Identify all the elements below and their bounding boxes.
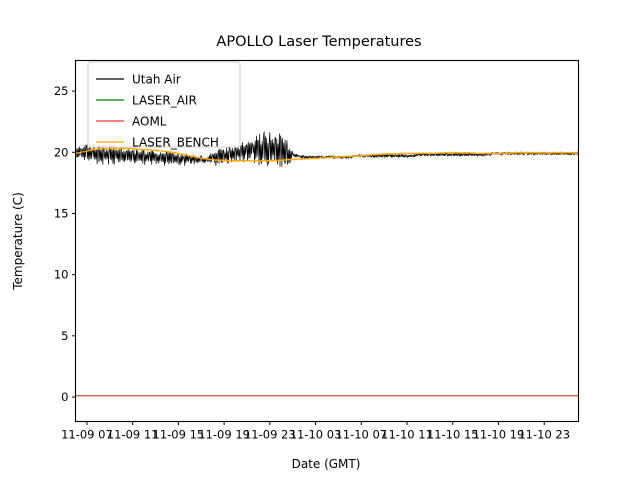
legend-label-aoml[interactable]: AOML: [132, 115, 167, 129]
x-tick-label: 11-09 15: [153, 428, 205, 442]
y-tick-label: 15: [54, 206, 69, 220]
x-tick-label: 11-10 03: [290, 428, 342, 442]
y-axis-label: Temperature (C): [11, 192, 25, 291]
legend-label-laser-bench[interactable]: LASER_BENCH: [132, 136, 219, 150]
x-tick-label: 11-10 23: [518, 428, 570, 442]
x-tick-label: 11-09 11: [107, 428, 159, 442]
chart-legend[interactable]: Utah AirLASER_AIRAOMLLASER_BENCH: [88, 62, 240, 150]
legend-label-laser-air[interactable]: LASER_AIR: [132, 94, 197, 108]
chart-canvas: APOLLO Laser Temperatures 0510152025 11-…: [0, 0, 640, 480]
x-tick-label: 11-09 23: [244, 428, 296, 442]
y-tick-label: 20: [54, 145, 69, 159]
x-tick-label: 11-10 11: [381, 428, 433, 442]
x-tick-label: 11-10 15: [427, 428, 479, 442]
x-axis-label: Date (GMT): [292, 457, 361, 471]
x-tick-label: 11-10 07: [335, 428, 387, 442]
y-tick-label: 10: [54, 268, 69, 282]
y-tick-label: 25: [54, 84, 69, 98]
x-tick-label: 11-10 19: [473, 428, 525, 442]
x-tick-label: 11-09 07: [61, 428, 113, 442]
matplotlib-figure: APOLLO Laser Temperatures 0510152025 11-…: [0, 0, 640, 480]
legend-label-utah-air[interactable]: Utah Air: [132, 73, 181, 87]
y-tick-label: 5: [61, 329, 68, 343]
chart-title: APOLLO Laser Temperatures: [216, 34, 421, 50]
y-tick-label: 0: [61, 390, 68, 404]
x-tick-label: 11-09 19: [198, 428, 250, 442]
